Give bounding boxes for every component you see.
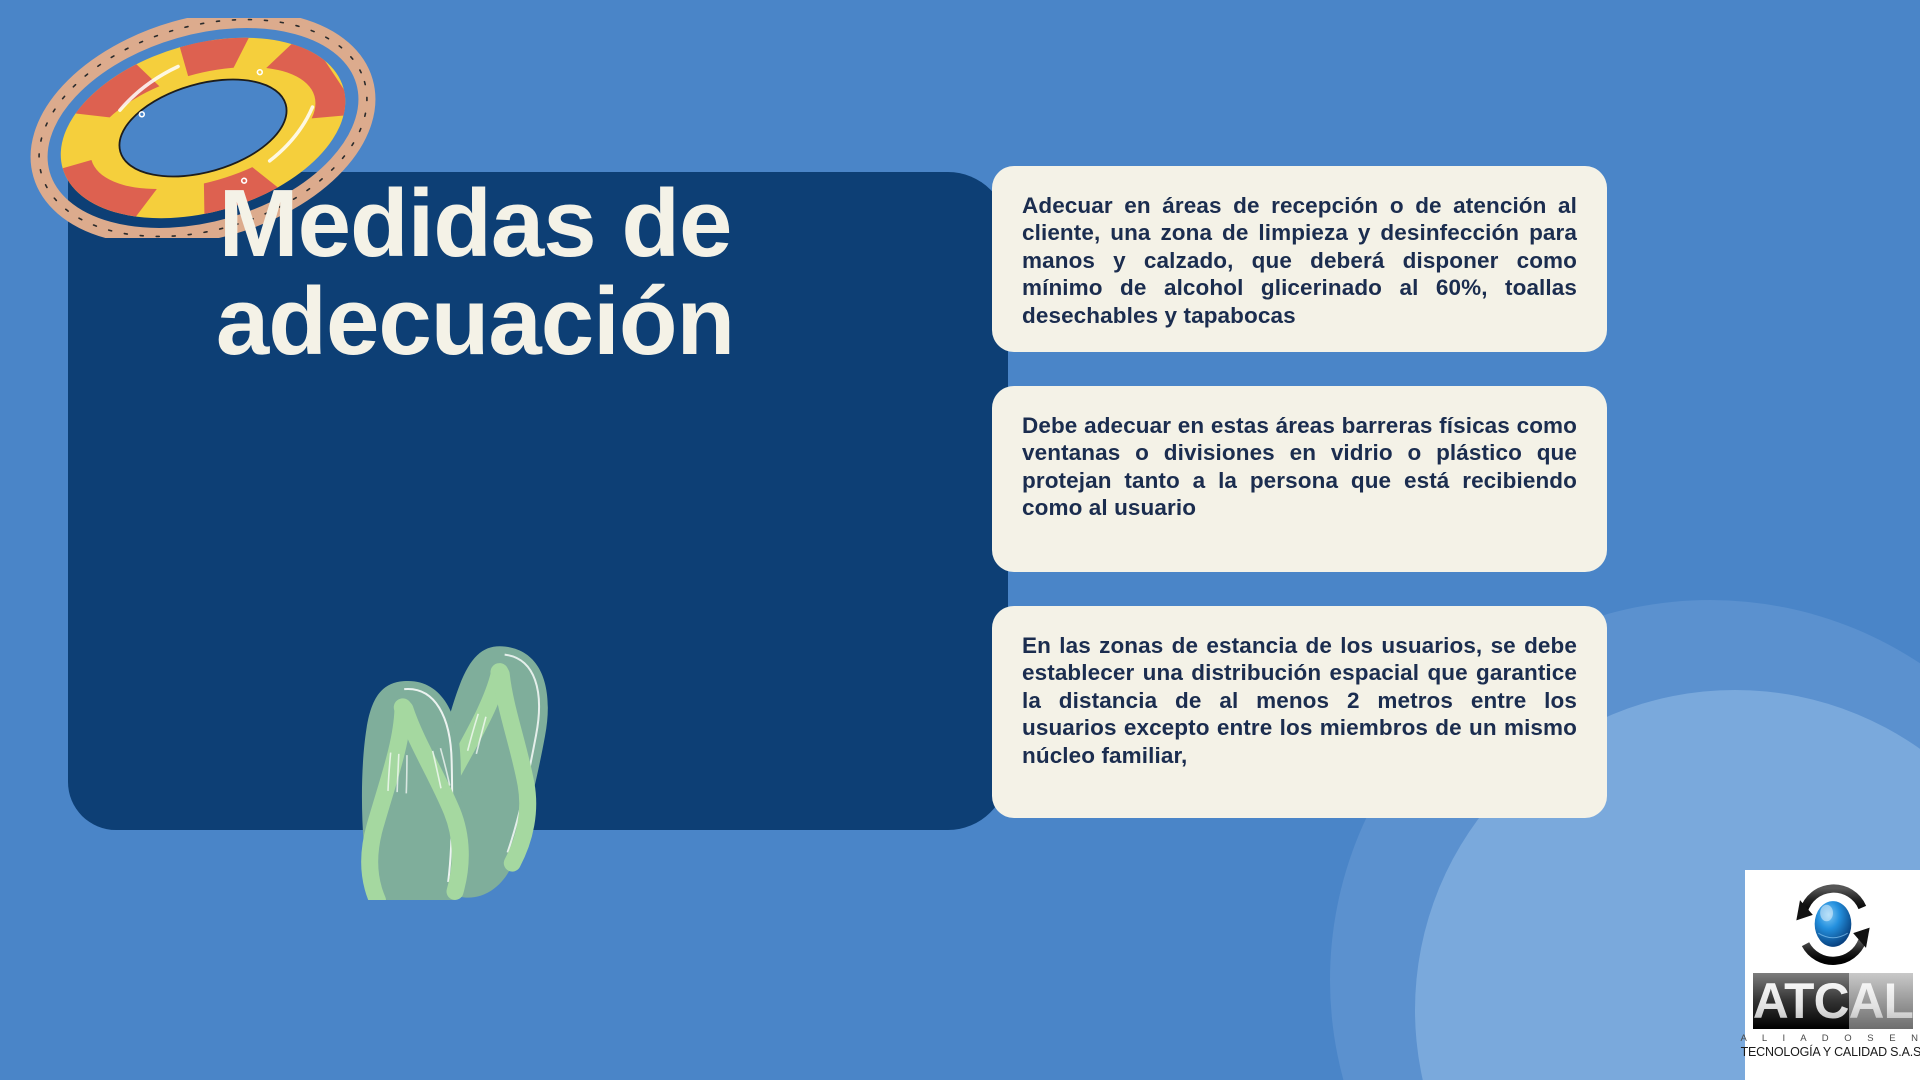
atcal-tagline-top: A L I A D O S E N xyxy=(1740,1033,1920,1044)
atcal-wordmark: ATCAL xyxy=(1753,972,1913,1030)
info-card: En las zonas de estancia de los usuarios… xyxy=(992,606,1607,818)
atcal-logo-mark xyxy=(1778,878,1888,970)
flip-flops-icon xyxy=(340,630,580,900)
page-title-line2: adecuación xyxy=(110,273,840,371)
info-card: Debe adecuar en estas áreas barreras fís… xyxy=(992,386,1607,572)
atcal-tagline-bottom: TECNOLOGÍA Y CALIDAD S.A.S. xyxy=(1741,1045,1920,1059)
atcal-logo: ATCAL A L I A D O S E N TECNOLOGÍA Y CAL… xyxy=(1745,870,1920,1080)
page-title: Medidas de adecuación xyxy=(110,175,840,371)
info-card: Adecuar en áreas de recepción o de atenc… xyxy=(992,166,1607,352)
svg-text:ATCAL: ATCAL xyxy=(1753,973,1913,1029)
page-title-line1: Medidas de xyxy=(110,175,840,273)
slide-canvas: Medidas de adecuación xyxy=(0,0,1920,1080)
